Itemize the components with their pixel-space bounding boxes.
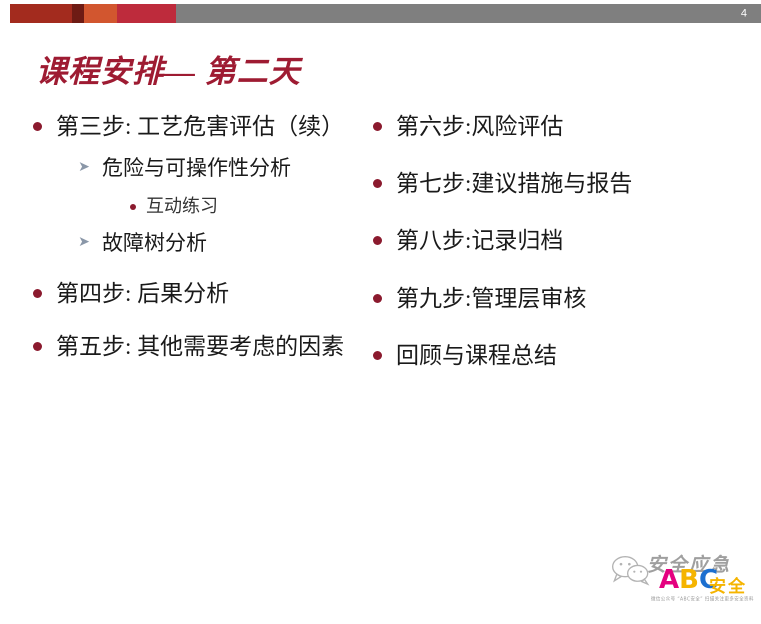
list-item: 第七步:建议措施与报告 bbox=[368, 169, 708, 198]
page-title: 课程安排— 第二天 bbox=[36, 46, 301, 91]
list-item-label: 第五步: 其他需要考虑的因素 bbox=[56, 334, 344, 359]
list-item-label: 第八步:记录归档 bbox=[396, 228, 563, 253]
list-item-label: 故障树分析 bbox=[102, 231, 207, 255]
content-column-left: 第三步: 工艺危害评估（续） ➤ 危险与可操作性分析 互动练习 ➤ 故障树分析 … bbox=[28, 112, 358, 376]
list-item: ➤ 危险与可操作性分析 bbox=[28, 155, 358, 182]
top-decorative-bar: 4 bbox=[0, 4, 761, 23]
list-item-label: 第七步:建议措施与报告 bbox=[396, 171, 632, 196]
watermark-brand-yellow: 安全 bbox=[709, 572, 747, 597]
list-item-label: 互动练习 bbox=[146, 196, 218, 216]
list-item-label: 第四步: 后果分析 bbox=[56, 281, 229, 306]
round-bullet-icon bbox=[33, 122, 42, 131]
round-bullet-icon bbox=[373, 122, 382, 131]
topbar-segment-crimson bbox=[117, 4, 176, 23]
topbar-segment-dark-red bbox=[10, 4, 72, 23]
round-bullet-icon bbox=[373, 294, 382, 303]
round-bullet-icon bbox=[373, 179, 382, 188]
arrow-bullet-icon: ➤ bbox=[76, 158, 92, 176]
topbar-segment-orange bbox=[84, 4, 117, 23]
round-bullet-icon bbox=[373, 236, 382, 245]
list-item-label: 第九步:管理层审核 bbox=[396, 286, 586, 311]
slide-body: 第三步: 工艺危害评估（续） ➤ 危险与可操作性分析 互动练习 ➤ 故障树分析 … bbox=[0, 112, 761, 532]
small-dot-bullet-icon bbox=[130, 204, 136, 210]
page-number: 4 bbox=[741, 8, 747, 19]
list-item: 第五步: 其他需要考虑的因素 bbox=[28, 332, 358, 361]
watermark-logo: 安全应急 ABC 安全 微信公众号 “ABC安全” 扫描关注更多安全资料 bbox=[605, 546, 753, 616]
list-item-label: 回顾与课程总结 bbox=[396, 343, 557, 368]
list-item: ➤ 故障树分析 bbox=[28, 230, 358, 257]
topbar-left-margin bbox=[0, 4, 10, 23]
content-column-right: 第六步:风险评估 第七步:建议措施与报告 第八步:记录归档 第九步:管理层审核 … bbox=[368, 112, 708, 398]
watermark-letter-a: A bbox=[659, 565, 679, 595]
list-item: 第四步: 后果分析 bbox=[28, 279, 358, 308]
list-item-label: 第三步: 工艺危害评估（续） bbox=[56, 114, 344, 139]
list-item: 第九步:管理层审核 bbox=[368, 284, 708, 313]
list-item-label: 危险与可操作性分析 bbox=[102, 156, 291, 180]
watermark-letter-b: B bbox=[679, 565, 699, 595]
topbar-segment-gray: 4 bbox=[176, 4, 761, 23]
list-spacer bbox=[28, 269, 358, 279]
topbar-segment-deep-maroon bbox=[72, 4, 84, 23]
arrow-bullet-icon: ➤ bbox=[76, 233, 92, 251]
round-bullet-icon bbox=[33, 289, 42, 298]
list-spacer bbox=[28, 322, 358, 332]
list-item-label: 第六步:风险评估 bbox=[396, 114, 563, 139]
list-item: 第八步:记录归档 bbox=[368, 226, 708, 255]
watermark-caption: 微信公众号 “ABC安全” 扫描关注更多安全资料 bbox=[651, 596, 754, 603]
round-bullet-icon bbox=[373, 351, 382, 360]
round-bullet-icon bbox=[33, 342, 42, 351]
list-item: 第三步: 工艺危害评估（续） bbox=[28, 112, 358, 141]
list-item: 互动练习 bbox=[28, 195, 358, 218]
wechat-bubble-icon bbox=[611, 554, 651, 586]
list-item: 回顾与课程总结 bbox=[368, 341, 708, 370]
list-item: 第六步:风险评估 bbox=[368, 112, 708, 141]
